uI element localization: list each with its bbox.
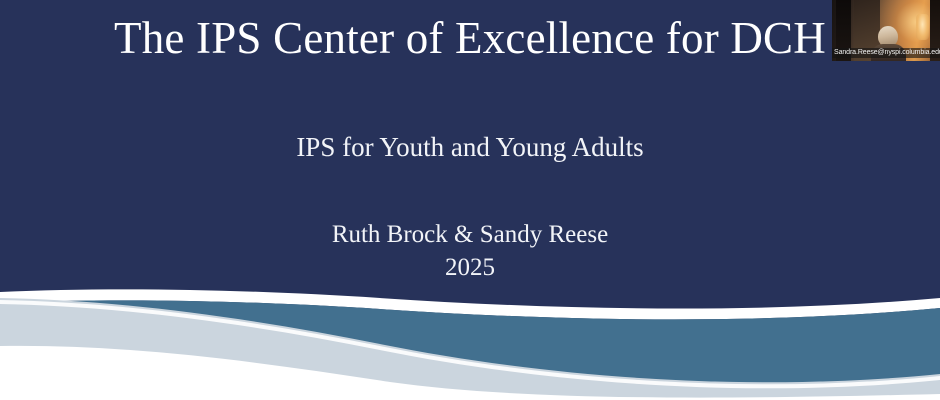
wave-decoration	[0, 270, 940, 400]
slide-subtitle: IPS for Youth and Young Adults	[0, 131, 940, 163]
participant-video-thumbnail[interactable]: Sandra.Reese@nyspi.columbia.edu	[832, 0, 940, 61]
video-name-bar: Sandra.Reese@nyspi.columbia.edu	[832, 47, 940, 58]
participant-name-label: Sandra.Reese@nyspi.columbia.edu	[832, 48, 940, 58]
slide-year: 2025	[0, 253, 940, 284]
slide-presenters: Ruth Brock & Sandy Reese	[0, 220, 940, 251]
presentation-slide: The IPS Center of Excellence for DCH IPS…	[0, 0, 940, 400]
slide-title: The IPS Center of Excellence for DCH	[0, 12, 940, 65]
video-lamp-glow	[916, 14, 929, 40]
